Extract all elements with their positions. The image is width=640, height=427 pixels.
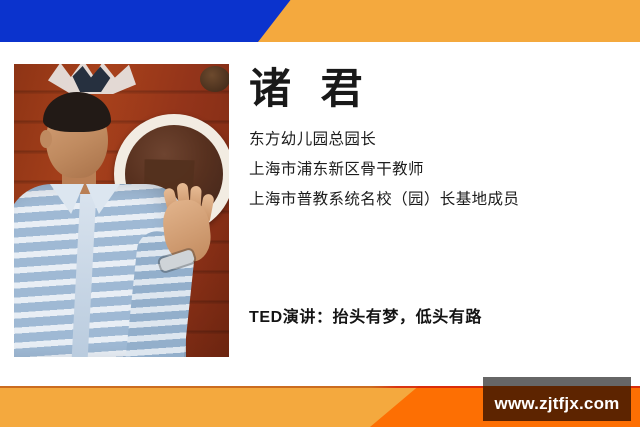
profile-name: 诸 君 — [249, 66, 634, 111]
credential-item: 上海市普教系统名校（园）长基地成员 — [249, 185, 634, 215]
person-ear — [40, 130, 52, 148]
watermark-body: www.zjtfjx.com — [483, 386, 631, 421]
profile-text-block: 诸 君 东方幼儿园总园长 上海市浦东新区骨干教师 上海市普教系统名校（园）长基地… — [249, 66, 634, 215]
bottom-banner-amber-band — [0, 386, 430, 427]
credential-list: 东方幼儿园总园长 上海市浦东新区骨干教师 上海市普教系统名校（园）长基地成员 — [249, 125, 634, 214]
top-banner-orange-band — [258, 0, 640, 42]
portrait-photo — [14, 64, 229, 357]
wall-ornament-knob — [200, 66, 229, 92]
poster-canvas: 诸 君 东方幼儿园总园长 上海市浦东新区骨干教师 上海市普教系统名校（园）长基地… — [0, 0, 640, 427]
watermark-badge: www.zjtfjx.com — [483, 377, 631, 421]
credential-item: 上海市浦东新区骨干教师 — [249, 155, 634, 185]
watermark-url-text: www.zjtfjx.com — [495, 394, 620, 414]
top-banner-blue-band — [0, 0, 300, 42]
talk-title: TED演讲：抬头有梦，低头有路 — [249, 303, 482, 327]
credential-item: 东方幼儿园总园长 — [249, 125, 634, 155]
watermark-top-strip — [483, 377, 631, 386]
top-banner — [0, 0, 640, 42]
